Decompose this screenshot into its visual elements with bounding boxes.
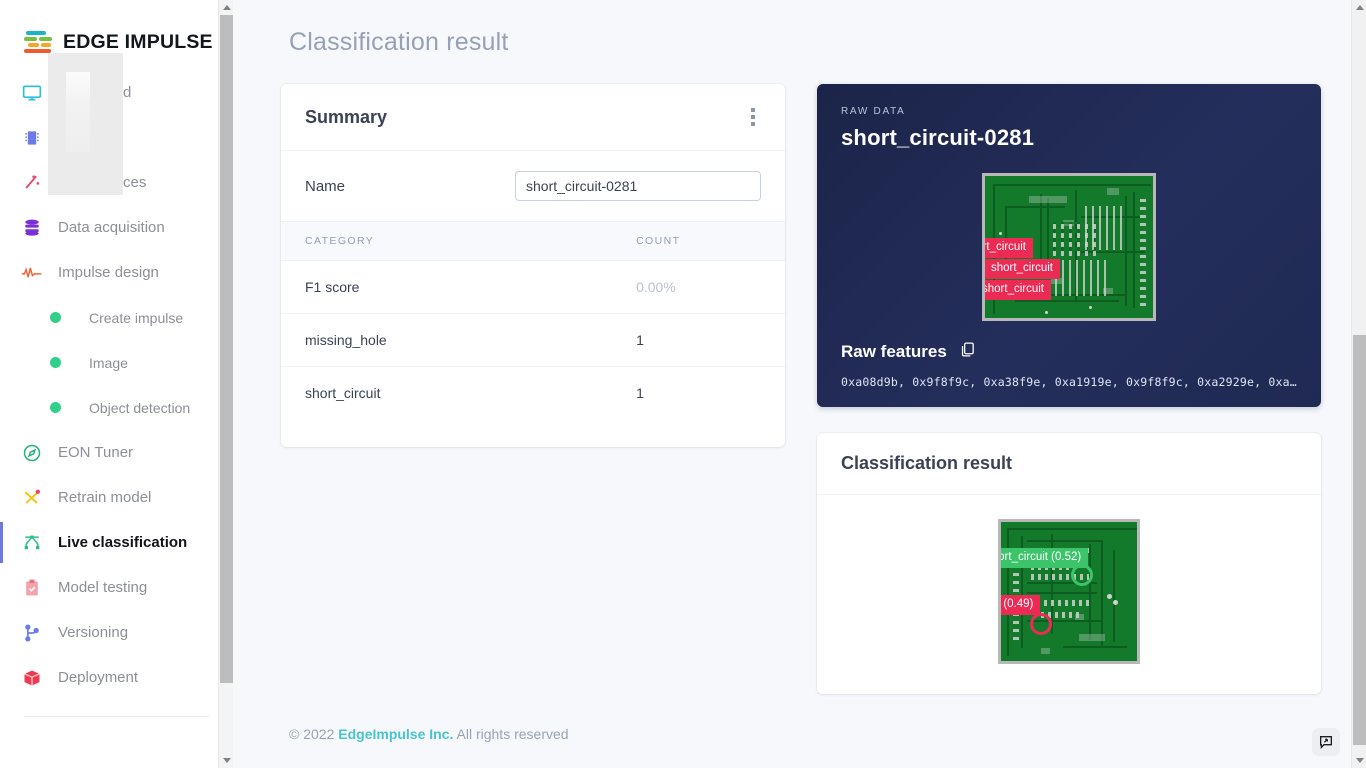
dot-icon	[50, 402, 61, 413]
column-header-count: COUNT	[636, 222, 785, 261]
sidebar-nav: Dashboard Devices	[0, 70, 233, 717]
cell-count: 1	[636, 367, 785, 420]
left-column: Summary Name CATEGORY COUNT	[281, 84, 785, 694]
cube-icon	[20, 666, 44, 690]
dot-icon	[50, 312, 61, 323]
sidebar-subitem-image[interactable]: Image	[0, 340, 233, 385]
sidebar-subitem-object-detection[interactable]: Object detection	[0, 385, 233, 430]
table-row: short_circuit 1	[281, 367, 785, 420]
raw-features-label: Raw features	[841, 342, 947, 362]
cell-category: short_circuit	[281, 367, 636, 420]
page-title: Classification result	[233, 0, 1366, 57]
classification-card-title: Classification result	[841, 453, 1012, 474]
footer-rights: All rights reserved	[457, 726, 569, 742]
raw-data-image-wrap: short_circuit short_circuit short_circui…	[841, 173, 1297, 321]
detection-tag: short_circuit	[982, 238, 1033, 258]
classification-card-body: short_circuit (0.52) missing_hole (0.49)	[817, 495, 1321, 694]
sidebar-item-deployment[interactable]: Deployment	[0, 655, 233, 700]
sidebar-item-impulse-design[interactable]: Impulse design	[0, 250, 233, 295]
classification-result-card: Classification result	[817, 433, 1321, 694]
sidebar-item-devices[interactable]: Devices	[0, 115, 233, 160]
scroll-down-arrow-icon[interactable]	[219, 753, 233, 768]
detection-tag: short_circuit	[982, 280, 1051, 300]
name-row: Name	[281, 151, 785, 222]
sidebar-item-data-sources[interactable]: Data sources	[0, 160, 233, 205]
sidebar-item-label: Data acquisition	[58, 219, 165, 236]
branch-icon	[20, 621, 44, 645]
pcb-image-raw: short_circuit short_circuit short_circui…	[982, 173, 1156, 321]
raw-data-title: short_circuit-0281	[841, 125, 1297, 151]
network-icon	[20, 531, 44, 555]
summary-table-body: F1 score 0.00% missing_hole 1 short_circ…	[281, 261, 785, 420]
name-input[interactable]	[515, 171, 761, 201]
detection-tag: missing_hole (0.49)	[998, 595, 1040, 615]
sidebar-subitem-create-impulse[interactable]: Create impulse	[0, 295, 233, 340]
database-icon	[20, 216, 44, 240]
kebab-menu-icon[interactable]	[745, 104, 761, 130]
sidebar-item-dashboard[interactable]: Dashboard	[0, 70, 233, 115]
detection-tag: short_circuit (0.52)	[998, 548, 1088, 568]
summary-card: Summary Name CATEGORY COUNT	[281, 84, 785, 447]
footer-company[interactable]: EdgeImpulse Inc.	[338, 726, 453, 742]
dot-icon	[50, 357, 61, 368]
main-scrollbar[interactable]	[1351, 0, 1366, 768]
main-scrollbar-thumb[interactable]	[1353, 335, 1366, 745]
sidebar-item-retrain-model[interactable]: Retrain model	[0, 475, 233, 520]
sidebar-item-model-testing[interactable]: Model testing	[0, 565, 233, 610]
sidebar-item-label: Impulse design	[58, 264, 159, 281]
scroll-up-arrow-icon[interactable]	[1352, 0, 1366, 15]
compass-icon	[20, 441, 44, 465]
content-columns: Summary Name CATEGORY COUNT	[233, 57, 1366, 694]
raw-data-eyebrow: RAW DATA	[841, 106, 1297, 117]
sidebar-item-label: Data sources	[58, 174, 146, 191]
sidebar-divider	[24, 716, 209, 717]
sidebar-item-label: Versioning	[58, 624, 128, 641]
detection-ring	[1030, 613, 1052, 635]
sidebar-item-label: EON Tuner	[58, 444, 133, 461]
sidebar-item-eon-tuner[interactable]: EON Tuner	[0, 430, 233, 475]
sidebar-scrollbar-thumb[interactable]	[220, 15, 233, 683]
sidebar-item-versioning[interactable]: Versioning	[0, 610, 233, 655]
wand-icon	[20, 171, 44, 195]
sidebar-subitem-label: Create impulse	[89, 310, 183, 326]
classification-card-header: Classification result	[817, 433, 1321, 495]
name-label: Name	[305, 178, 515, 195]
pulse-icon	[20, 261, 44, 285]
chip-icon	[20, 126, 44, 150]
summary-card-header: Summary	[281, 84, 785, 151]
right-column: RAW DATA short_circuit-0281	[817, 84, 1321, 694]
raw-features-row: Raw features	[841, 341, 1297, 363]
pcb-image-classified: short_circuit (0.52) missing_hole (0.49)	[998, 519, 1140, 664]
detection-tag: short_circuit	[984, 259, 1060, 279]
brand-name: EDGE IMPULSE	[63, 31, 213, 54]
summary-table-head: CATEGORY COUNT	[281, 222, 785, 261]
scroll-up-arrow-icon[interactable]	[219, 0, 233, 15]
cell-category: F1 score	[281, 261, 636, 314]
sidebar-item-data-acquisition[interactable]: Data acquisition	[0, 205, 233, 250]
monitor-icon	[20, 81, 44, 105]
copy-icon[interactable]	[959, 341, 976, 363]
sidebar-item-label: Retrain model	[58, 489, 151, 506]
summary-card-title: Summary	[305, 107, 387, 128]
summary-table: CATEGORY COUNT F1 score 0.00% missing_ho…	[281, 222, 785, 419]
brand-logo[interactable]: EDGE IMPULSE	[0, 0, 233, 58]
cell-category: missing_hole	[281, 314, 636, 367]
feedback-bubble-icon[interactable]	[1312, 728, 1340, 756]
table-row: F1 score 0.00%	[281, 261, 785, 314]
sidebar-subitem-label: Image	[89, 355, 128, 371]
sidebar-item-label: Model testing	[58, 579, 147, 596]
raw-data-card: RAW DATA short_circuit-0281	[817, 84, 1321, 407]
column-header-category: CATEGORY	[281, 222, 636, 261]
table-header-row: CATEGORY COUNT	[281, 222, 785, 261]
clipboard-icon	[20, 576, 44, 600]
sidebar-item-live-classification[interactable]: Live classification	[0, 520, 233, 565]
table-row: missing_hole 1	[281, 314, 785, 367]
shuffle-icon	[20, 486, 44, 510]
sidebar-item-label: Live classification	[58, 534, 187, 551]
sidebar-item-label: Deployment	[58, 669, 138, 686]
cell-count: 0.00%	[636, 261, 785, 314]
raw-features-values: 0xa08d9b, 0x9f8f9c, 0xa38f9e, 0xa1919e, …	[841, 375, 1297, 389]
summary-card-footer-pad	[281, 419, 785, 447]
app-root: EDGE IMPULSE Dashboard	[0, 0, 1366, 768]
footer: © 2022 EdgeImpulse Inc. All rights reser…	[233, 726, 1366, 768]
cell-count: 1	[636, 314, 785, 367]
sidebar-subitem-label: Object detection	[89, 400, 190, 416]
sidebar: EDGE IMPULSE Dashboard	[0, 0, 233, 768]
sidebar-item-label: Dashboard	[58, 84, 131, 101]
main-content: Classification result Summary Name	[233, 0, 1366, 768]
sidebar-item-label: Devices	[58, 129, 111, 146]
edge-impulse-logo-icon	[24, 29, 54, 55]
footer-copyright: © 2022	[289, 726, 334, 742]
scroll-down-arrow-icon[interactable]	[1352, 753, 1366, 768]
sidebar-scrollbar[interactable]	[218, 0, 233, 768]
